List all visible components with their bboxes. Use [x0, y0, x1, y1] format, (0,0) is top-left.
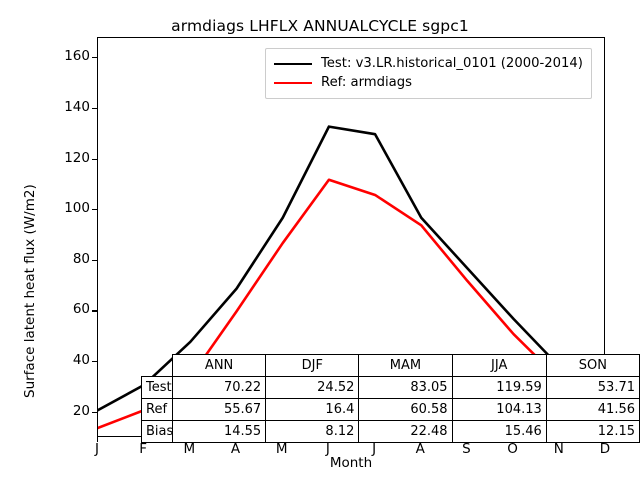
legend-entry[interactable]: Test: v3.LR.historical_0101 (2000-2014)	[274, 54, 583, 73]
stats-table-row: Ref55.6716.460.58104.1341.56	[142, 399, 640, 421]
stats-table-cell: 83.05	[359, 377, 452, 399]
stats-table-cell: 119.59	[452, 377, 546, 399]
stats-table-row: Bias14.558.1222.4815.4612.15	[142, 421, 640, 443]
stats-table-body: Test70.2224.5283.05119.5953.71Ref55.6716…	[142, 377, 640, 443]
y-tick-label: 120	[36, 150, 90, 166]
stats-table-row-header: Test	[142, 377, 173, 399]
legend-label: Ref: armdiags	[321, 75, 412, 90]
stats-table-row: Test70.2224.5283.05119.5953.71	[142, 377, 640, 399]
stats-table-cell: 70.22	[173, 377, 266, 399]
x-tick-mark	[97, 437, 98, 442]
stats-table-header-row: ANNDJFMAMJJASON	[142, 355, 640, 377]
legend-entry[interactable]: Ref: armdiags	[274, 73, 583, 92]
stats-table-cell: 104.13	[452, 399, 546, 421]
legend-label: Test: v3.LR.historical_0101 (2000-2014)	[321, 56, 583, 71]
y-tick-label: 100	[36, 200, 90, 216]
stats-table-cell: 22.48	[359, 421, 452, 443]
y-tick-label: 160	[36, 48, 90, 64]
stats-table-row-header: Bias	[142, 421, 173, 443]
stats-table-cell: 41.56	[546, 399, 639, 421]
stats-table-column-header: JJA	[452, 355, 546, 377]
x-axis-label: Month	[97, 455, 605, 471]
stats-table-cell: 55.67	[173, 399, 266, 421]
stats-table-cell: 15.46	[452, 421, 546, 443]
legend-color-swatch	[274, 82, 312, 84]
y-tick-label: 60	[36, 301, 90, 317]
y-tick-label: 20	[36, 403, 90, 419]
y-tick-label: 80	[36, 251, 90, 267]
stats-table-corner	[142, 355, 173, 377]
legend-color-swatch	[274, 63, 312, 65]
chart-title: armdiags LHFLX ANNUALCYCLE sgpc1	[0, 17, 640, 35]
stats-table-head: ANNDJFMAMJJASON	[142, 355, 640, 377]
stats-table-cell: 14.55	[173, 421, 266, 443]
stats-table-cell: 24.52	[266, 377, 359, 399]
figure-canvas: armdiags LHFLX ANNUALCYCLE sgpc1 Surface…	[0, 0, 640, 480]
stats-table-cell: 8.12	[266, 421, 359, 443]
stats-table-column-header: SON	[546, 355, 639, 377]
stats-table-column-header: MAM	[359, 355, 452, 377]
stats-table-column-header: ANN	[173, 355, 266, 377]
stats-table-cell: 53.71	[546, 377, 639, 399]
stats-table-row-header: Ref	[142, 399, 173, 421]
stats-table: ANNDJFMAMJJASON Test70.2224.5283.05119.5…	[141, 354, 640, 443]
stats-table-cell: 60.58	[359, 399, 452, 421]
stats-table-column-header: DJF	[266, 355, 359, 377]
chart-legend: Test: v3.LR.historical_0101 (2000-2014)R…	[265, 48, 592, 99]
stats-table-cell: 16.4	[266, 399, 359, 421]
stats-table-cell: 12.15	[546, 421, 639, 443]
y-tick-label: 40	[36, 352, 90, 368]
y-tick-label: 140	[36, 99, 90, 115]
